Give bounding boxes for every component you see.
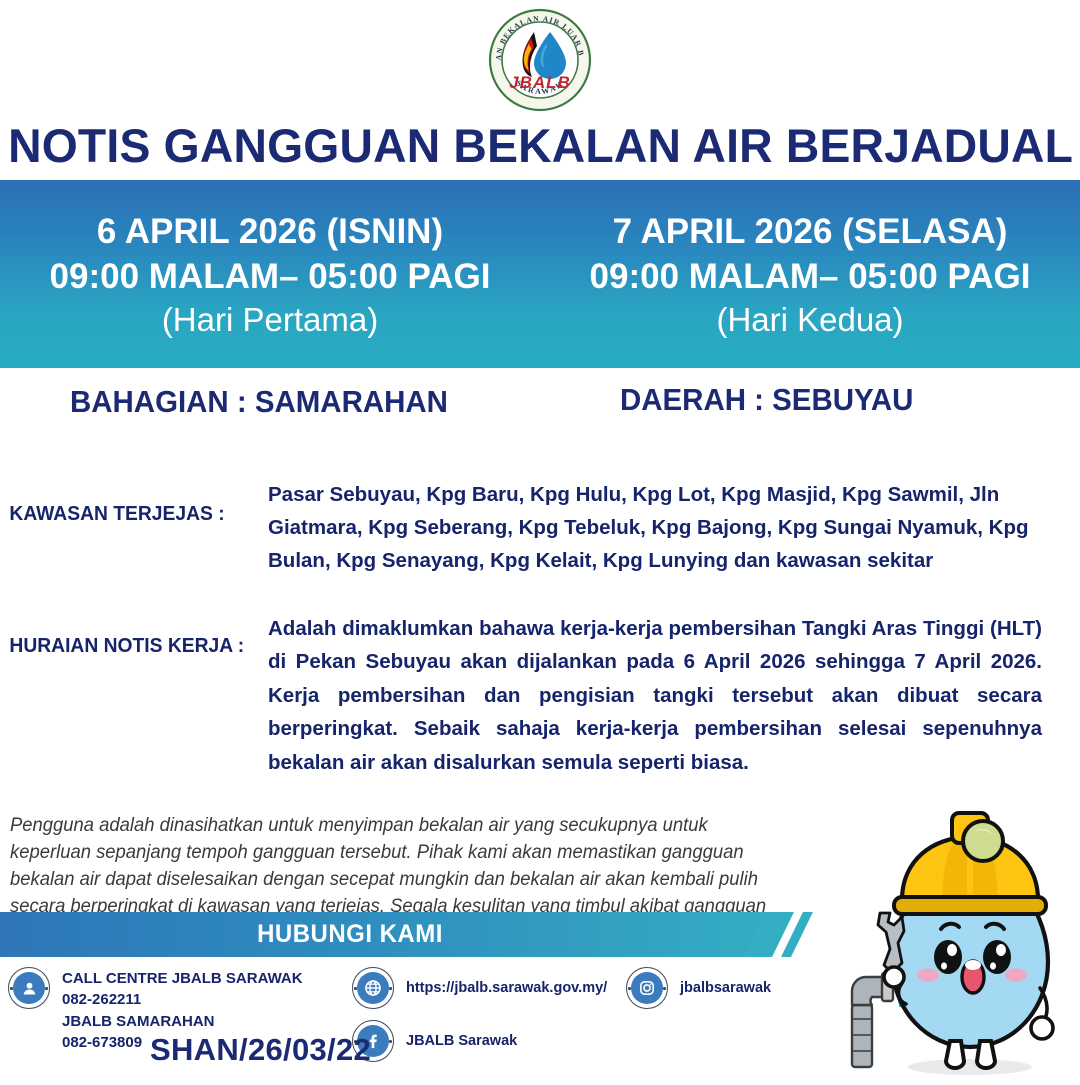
schedule-day-1: 6 APRIL 2026 (ISNIN) 09:00 MALAM– 05:00 … — [0, 180, 540, 368]
reference-code: SHAN/26/03/22 — [150, 1032, 371, 1068]
division-label: BAHAGIAN : SAMARAHAN — [70, 384, 448, 420]
work-description-label: HURAIAN NOTIS KERJA : — [0, 612, 252, 779]
work-description-row: HURAIAN NOTIS KERJA : Adalah dimaklumkan… — [0, 612, 1080, 779]
page-title: NOTIS GANGGUAN BEKALAN AIR BERJADUAL — [8, 118, 1072, 173]
facebook-handle[interactable]: JBALB Sarawak — [394, 1020, 517, 1052]
notice-poster: JABATAN BEKALAN AIR LUAR BANDAR SARAWAK … — [0, 0, 1080, 1080]
globe-icon — [352, 967, 394, 1009]
call-centre-line3: JBALB SAMARAHAN — [62, 1011, 303, 1032]
website-url[interactable]: https://jbalb.sarawak.gov.my/ — [394, 967, 607, 999]
contact-banner-title: HUBUNGI KAMI — [14, 912, 686, 957]
day1-label: (Hari Pertama) — [162, 299, 378, 342]
schedule-banner: 6 APRIL 2026 (ISNIN) 09:00 MALAM– 05:00 … — [0, 180, 1080, 368]
contact-instagram[interactable]: jbalbsarawak — [626, 967, 771, 1009]
work-description-value: Adalah dimaklumkan bahawa kerja-kerja pe… — [268, 612, 1080, 779]
person-icon — [8, 967, 50, 1009]
day1-date: 6 APRIL 2026 (ISNIN) — [97, 210, 443, 254]
jbalb-logo-icon: JABATAN BEKALAN AIR LUAR BANDAR SARAWAK … — [488, 8, 592, 112]
water-droplet-mascot-icon — [840, 805, 1076, 1080]
call-centre-line2: 082-262211 — [62, 989, 303, 1010]
svg-text:JBALB: JBALB — [509, 73, 571, 92]
contact-banner: HUBUNGI KAMI — [0, 912, 790, 957]
contact-facebook[interactable]: JBALB Sarawak — [352, 1020, 517, 1062]
affected-areas-row: KAWASAN TERJEJAS : Pasar Sebuyau, Kpg Ba… — [0, 478, 1080, 578]
day2-date: 7 APRIL 2026 (SELASA) — [613, 210, 1008, 254]
affected-areas-label: KAWASAN TERJEJAS : — [0, 478, 252, 578]
banner-slashes-decoration — [752, 912, 822, 957]
hard-hat-icon — [894, 813, 1046, 914]
location-row: BAHAGIAN : SAMARAHAN DAERAH : SEBUYAU — [0, 384, 1080, 430]
affected-areas-value: Pasar Sebuyau, Kpg Baru, Kpg Hulu, Kpg L… — [268, 478, 1080, 578]
instagram-icon — [626, 967, 668, 1009]
schedule-day-2: 7 APRIL 2026 (SELASA) 09:00 MALAM– 05:00… — [540, 180, 1080, 368]
call-centre-line1: CALL CENTRE JBALB SARAWAK — [62, 968, 303, 989]
district-label: DAERAH : SEBUYAU — [620, 382, 913, 418]
day2-time: 09:00 MALAM– 05:00 PAGI — [590, 255, 1031, 299]
contact-website[interactable]: https://jbalb.sarawak.gov.my/ — [352, 967, 607, 1009]
day1-time: 09:00 MALAM– 05:00 PAGI — [50, 255, 491, 299]
contact-details: CALL CENTRE JBALB SARAWAK 082-262211 JBA… — [0, 963, 840, 1080]
day2-label: (Hari Kedua) — [716, 299, 903, 342]
leaking-pipe — [852, 973, 893, 1067]
instagram-handle[interactable]: jbalbsarawak — [668, 967, 771, 999]
logo-container: JABATAN BEKALAN AIR LUAR BANDAR SARAWAK … — [0, 6, 1080, 114]
